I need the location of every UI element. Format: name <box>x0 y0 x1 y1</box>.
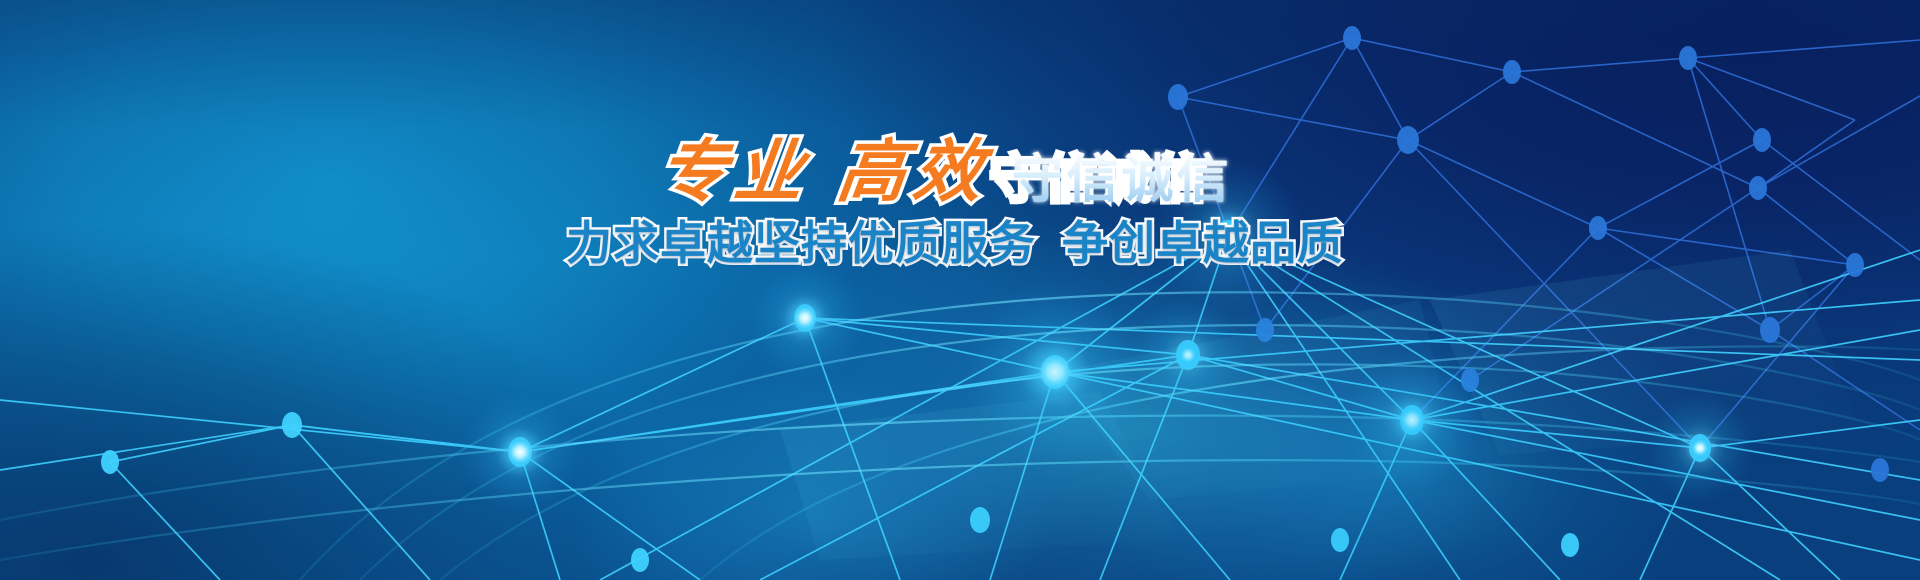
hero-banner: 专业 高效 守信诚信 守信诚信 力求卓越坚持优质服务争创卓越品质 <box>0 0 1920 580</box>
center-glow-overlay <box>0 0 1920 580</box>
